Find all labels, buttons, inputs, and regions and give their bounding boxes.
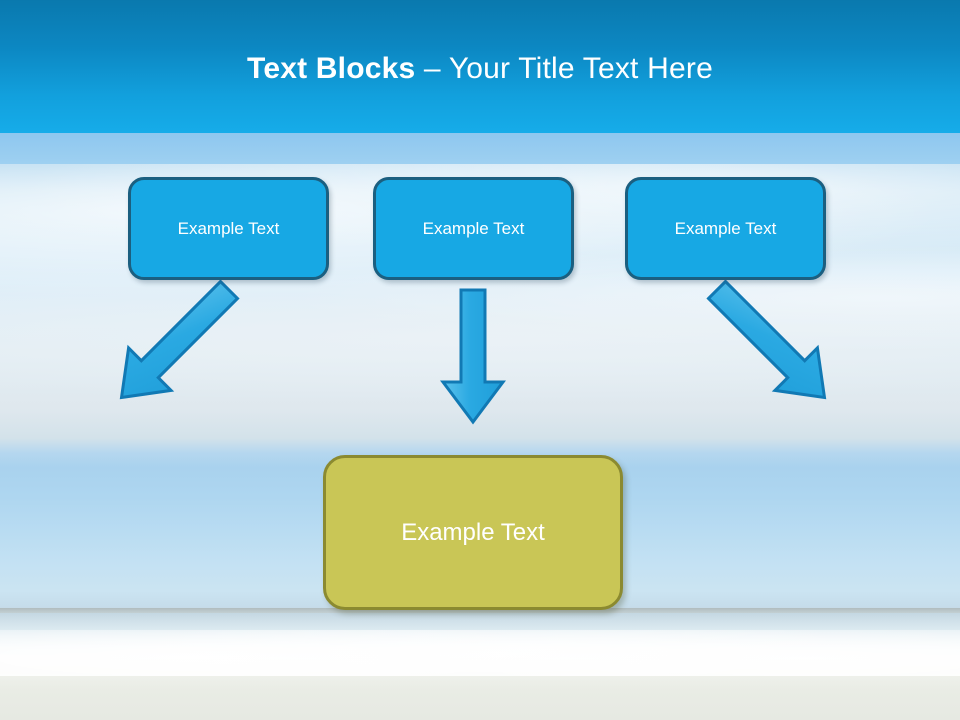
page-title-rest: Your Title Text Here [449,52,713,85]
page-title-separator: – [415,52,448,85]
text-block-1[interactable]: Example Text [128,177,329,280]
page-title-bold: Text Blocks [247,52,415,85]
text-block-3[interactable]: Example Text [625,177,826,280]
text-block-2[interactable]: Example Text [373,177,574,280]
title-accent-band [0,133,960,164]
slide-canvas: Text Blocks – Your Title Text Here [0,0,960,720]
text-block-1-label: Example Text [178,219,280,239]
text-block-3-label: Example Text [675,219,777,239]
text-block-2-label: Example Text [423,219,525,239]
result-text-block[interactable]: Example Text [323,455,623,610]
result-text-block-label: Example Text [401,519,545,547]
page-title: Text Blocks – Your Title Text Here [0,52,960,86]
